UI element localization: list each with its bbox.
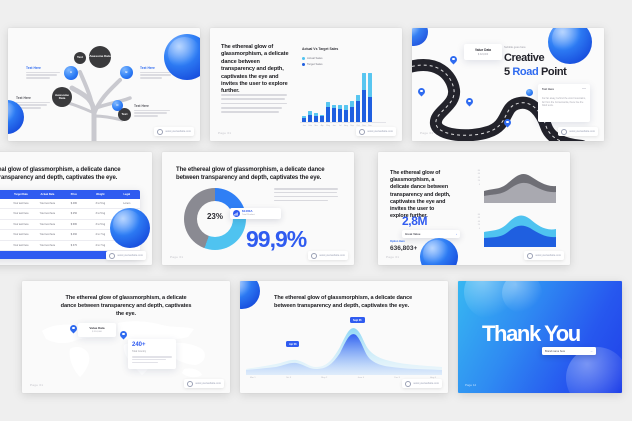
bar-segment-target: [356, 101, 360, 122]
road-title-accent: Road: [512, 66, 538, 78]
page-number: Page 01: [170, 255, 183, 259]
tree-node-label: C: [112, 100, 123, 111]
bar-segment-actual: [368, 73, 372, 97]
table-column-header: Legal: [114, 193, 140, 196]
bar-segment-target: [368, 97, 372, 122]
map-pin-4[interactable]: [504, 119, 511, 128]
search-icon: [405, 381, 411, 387]
bar-x-label: Jan: [302, 125, 306, 127]
watermark-badge: www.yourwebsite.com: [154, 127, 194, 136]
search-icon: [527, 253, 533, 259]
tree-node-label: B: [120, 66, 133, 79]
slide-data-table[interactable]: The ethereal glow of glassmorphism, a de…: [0, 152, 152, 265]
bar-segment-target: [350, 107, 354, 122]
tree-node-c[interactable]: C: [112, 100, 123, 111]
kpi-value: 2,8M: [402, 214, 427, 228]
table-cell: $ 680: [61, 223, 87, 226]
value-card-sub: $ 324,000: [78, 331, 116, 333]
world-map-icon: [36, 315, 216, 381]
road-title-line2: 5 Road Point: [504, 66, 566, 78]
slide-mountain-area[interactable]: The ethereal glow of glassmorphism, a de…: [240, 281, 448, 393]
watermark-text: www.yourwebsite.com: [535, 254, 561, 257]
table-column-header: Price: [61, 193, 87, 196]
watermark-badge: www.yourwebsite.com: [558, 127, 598, 136]
bar-column: Oct: [356, 95, 360, 123]
detail-card-title: Text Here: [542, 88, 554, 91]
bar-segment-target: [308, 115, 312, 122]
table-column-header: Actual Data: [34, 193, 60, 196]
big-percent-value: 99,9%: [246, 226, 306, 253]
table-cell: Your text here: [8, 244, 34, 247]
value-card-title: Value Data: [78, 326, 116, 330]
grey-chart-yticks: 806040200: [474, 170, 480, 187]
map-pin-2[interactable]: [450, 56, 457, 65]
tree-node-b[interactable]: B: [120, 66, 133, 79]
watermark-text: www.yourwebsite.com: [117, 254, 143, 257]
decorative-sphere: [502, 281, 542, 313]
slide-1-content: Text Awesome Data Awesome Data Text A B …: [8, 28, 200, 141]
slide-bar-chart[interactable]: The ethereal glow of glassmorphism, a de…: [210, 28, 402, 141]
watermark-text: www.yourwebsite.com: [165, 130, 191, 133]
bar-segment-target: [338, 109, 342, 122]
table-cell: Your text here: [0, 233, 8, 236]
slide-2-content: The ethereal glow of glassmorphism, a de…: [210, 28, 402, 141]
value-card-sub: $ 324,000: [464, 54, 502, 56]
bar-column: Aug: [344, 105, 348, 123]
map-pin-left[interactable]: [70, 325, 77, 334]
watermark-badge: www.yourwebsite.com: [524, 251, 564, 260]
search-icon: [311, 253, 317, 259]
page-number: Page 01: [30, 383, 43, 387]
tree-node-label: Text: [74, 52, 86, 64]
callout-lines: [134, 110, 170, 118]
watermark-badge: www.yourwebsite.com: [184, 379, 224, 388]
bar-x-label: Jun: [332, 125, 336, 127]
bar-column: Feb: [308, 111, 312, 122]
table-column-header: Item Name: [0, 193, 8, 196]
table-cell: Your text here: [0, 202, 8, 205]
tooltip-apr[interactable]: Apr 08: [286, 341, 299, 347]
table-cell: $ 480: [61, 202, 87, 205]
decorative-sphere: [420, 238, 458, 265]
thank-you-title: Thank You: [482, 321, 580, 347]
callout-title: Text Here: [26, 66, 60, 70]
bar-column: Mar: [314, 113, 318, 122]
page-number: Page 01: [218, 131, 231, 135]
table-cell: Your text here: [34, 244, 60, 247]
bar-column: Dec: [368, 73, 372, 122]
tree-node-awesome-data-left[interactable]: Awesome Data: [52, 87, 72, 107]
table-column-header: Weight: [87, 193, 113, 196]
table-cell: Lorem: [114, 202, 140, 205]
slide-gallery-canvas: Text Awesome Data Awesome Data Text A B …: [0, 0, 632, 421]
watermark-badge: www.yourwebsite.com: [356, 127, 396, 136]
slide-headline: The ethereal glow of glassmorphism, a de…: [274, 295, 414, 311]
slide-thank-you[interactable]: Thank You Brand name here → Page 12: [458, 281, 622, 393]
mountain-area-chart-plot: [246, 317, 442, 375]
chip-sub: Total Product: [242, 214, 255, 217]
value-data-card[interactable]: Value Data $ 324,000: [78, 323, 116, 337]
table-cell: 3 to 5 kg: [87, 202, 113, 205]
tree-node-awesome-data-top[interactable]: Awesome Data: [89, 46, 111, 68]
slide-road-point[interactable]: Value Data $ 324,000 Subtitle goes here …: [412, 28, 604, 141]
decorative-sphere: [110, 208, 150, 248]
watermark-badge: www.yourwebsite.com: [106, 251, 146, 260]
road-title-line1: Creative: [504, 52, 544, 64]
bar-column: Sep: [350, 101, 354, 122]
table-cell: Your text here: [34, 233, 60, 236]
bar-x-label: Feb: [308, 125, 312, 127]
decorative-sphere: [240, 281, 260, 309]
callout-left-top: Text Here: [26, 66, 60, 80]
bar-x-label: Jul: [338, 125, 342, 127]
tree-node-text-top[interactable]: Text: [74, 52, 86, 64]
slide-headline: The ethereal glow of glassmorphism, a de…: [0, 166, 136, 182]
tree-node-a[interactable]: A: [64, 66, 78, 80]
bar-x-label: Aug: [344, 125, 348, 127]
tree-node-label: Awesome Data: [52, 87, 72, 107]
table-cell: Your text here: [34, 202, 60, 205]
page-number: Page 01: [420, 131, 433, 135]
total-product-chip[interactable]: $1400A Total Product: [230, 208, 281, 219]
tree-node-label: A: [64, 66, 78, 80]
watermark-text: www.yourwebsite.com: [367, 130, 393, 133]
slide-7-content: The ethereal glow of glassmorphism, a de…: [22, 281, 230, 393]
eyebrow-text: Subtitle goes here: [504, 46, 526, 49]
slide-headline: The ethereal glow of glassmorphism, a de…: [221, 44, 289, 96]
chart-title: Actual Vs Target Sales: [302, 47, 338, 51]
detail-card-body: Far far away, behind the word mountains,…: [542, 97, 586, 108]
stat-body-lines: [132, 355, 172, 363]
slide-4-content: The ethereal glow of glassmorphism, a de…: [0, 152, 152, 265]
table-cell: Your text here: [34, 212, 60, 215]
tree-node-label: Awesome Data: [89, 46, 111, 68]
table-cell: Your text here: [0, 212, 8, 215]
blue-chart-yticks: 806040200: [474, 214, 480, 231]
arrow-right-icon: →: [590, 349, 593, 353]
more-icon: [582, 88, 586, 89]
table-cell: $ 250: [61, 212, 87, 215]
table-cell: Your text here: [8, 202, 34, 205]
detail-card[interactable]: Text Here Far far away, behind the word …: [538, 84, 590, 122]
brand-button[interactable]: Brand name here →: [542, 347, 596, 355]
callout-title: Text Here: [134, 104, 170, 108]
chart-icon: [234, 212, 238, 216]
watermark-text: www.yourwebsite.com: [195, 382, 221, 385]
watermark-badge: www.yourwebsite.com: [308, 251, 348, 260]
table-cell: Your text here: [0, 223, 8, 226]
bar-column: Jun: [332, 105, 336, 122]
callout-title: Text Here: [16, 96, 50, 100]
table-cell: Your text here: [8, 233, 34, 236]
kpi-badge-label: Great Value: [405, 232, 420, 236]
step-bullet-icon: [526, 89, 533, 96]
bar-segment-actual: [362, 73, 366, 89]
watermark-text: www.yourwebsite.com: [319, 254, 345, 257]
table-cell: Your text here: [8, 223, 34, 226]
chip-icon: [233, 210, 240, 217]
table-row[interactable]: Your text hereYour text hereYour text he…: [0, 199, 140, 210]
chart-legend: Actual Sales Target Sales: [302, 56, 323, 68]
bar-column: May: [326, 102, 330, 122]
page-number: Page 01: [386, 255, 399, 259]
watermark-text: www.yourwebsite.com: [569, 130, 595, 133]
watermark-badge: www.yourwebsite.com: [402, 379, 442, 388]
callout-lines: [26, 72, 60, 80]
blue-area-chart-plot: [484, 213, 556, 247]
legend-item-actual: Actual Sales: [302, 56, 323, 60]
slide-headline: The ethereal glow of glassmorphism, a de…: [176, 166, 326, 182]
bar-x-label: Apr: [320, 125, 324, 127]
slide-9-content: Thank You Brand name here → Page 12: [458, 281, 622, 393]
chart-x-label: Mar 1: [250, 377, 256, 379]
bar-x-label: Sep: [350, 125, 354, 127]
sub-value: 636,803+: [390, 245, 417, 252]
slide-5-content: The ethereal glow of glassmorphism, a de…: [162, 152, 354, 265]
chart-x-label: May 2: [321, 377, 327, 379]
chip-text-group: $1400A Total Product: [242, 210, 255, 216]
page-number: Page 12: [465, 383, 476, 387]
slide-6-content: The ethereal glow of glassmorphism, a de…: [378, 152, 570, 265]
stat-value: 240+: [132, 342, 146, 348]
watermark-text: www.yourwebsite.com: [413, 382, 439, 385]
search-icon: [109, 253, 115, 259]
table-cell: Your text here: [8, 212, 34, 215]
road-title-tail: Point: [541, 66, 567, 78]
map-pin-1[interactable]: [418, 88, 425, 97]
chart-x-label: Oct 3: [286, 377, 291, 379]
grey-area-chart-plot: [484, 169, 556, 203]
bar-column: Nov: [362, 73, 366, 122]
slide-donut-chart[interactable]: The ethereal glow of glassmorphism, a de…: [162, 152, 354, 265]
table-cell: Your text here: [34, 223, 60, 226]
tooltip-sept[interactable]: Sept 06: [350, 317, 365, 323]
value-card-title: Value Data: [464, 48, 502, 52]
bar-segment-target: [332, 108, 336, 122]
sub-label: Option Here: [390, 240, 405, 243]
side-lorem-lines: [274, 188, 338, 201]
legend-label: Target Sales: [307, 62, 323, 66]
total-country-card[interactable]: 240+ Total Country: [128, 339, 176, 369]
map-pin-3[interactable]: [466, 98, 473, 107]
legend-item-target: Target Sales: [302, 62, 323, 66]
bar-column: Jul: [338, 105, 342, 122]
legend-label: Actual Sales: [307, 56, 323, 60]
callout-lines: [140, 72, 174, 80]
kpi-badge[interactable]: Great Value ›: [402, 230, 460, 238]
road-title-number: 5: [504, 66, 510, 78]
bar-segment-target: [326, 107, 330, 122]
body-lorem-lines: [221, 94, 287, 113]
callout-right-bottom: Text Here: [134, 104, 170, 118]
value-data-card[interactable]: Value Data $ 324,000: [464, 44, 502, 60]
bar-x-label: May: [326, 125, 330, 127]
chart-x-label: June 4: [358, 377, 365, 379]
search-icon: [187, 381, 193, 387]
stat-label: Total Country: [132, 350, 146, 353]
brand-button-label: Brand name here: [545, 350, 565, 353]
bar-segment-target: [362, 90, 366, 123]
table-cell: $ 370: [61, 244, 87, 247]
table-column-header: Target Data: [8, 193, 34, 196]
chart-axis: [300, 122, 386, 123]
chart-x-label: Dec 5: [394, 377, 400, 379]
table-header-row: Item NameTarget DataActual DataPriceWeig…: [0, 190, 140, 199]
bar-column: Apr: [320, 115, 324, 123]
table-cell: 4 to 7 kg: [87, 233, 113, 236]
bar-x-label: Mar: [314, 125, 318, 127]
table-cell: 3 to 5 kg: [87, 212, 113, 215]
map-pin-right[interactable]: [120, 331, 127, 340]
bar-chart-plot: JanFebMarAprMayJunJulAugSepOctNovDec: [302, 72, 372, 122]
slide-stacked-area[interactable]: The ethereal glow of glassmorphism, a de…: [378, 152, 570, 265]
slide-3-content: Value Data $ 324,000 Subtitle goes here …: [412, 28, 604, 141]
table-cell: 4 to 7 kg: [87, 244, 113, 247]
bar-segment-target: [344, 110, 348, 123]
slide-8-content: The ethereal glow of glassmorphism, a de…: [240, 281, 448, 393]
table-cell: Your text here: [0, 244, 8, 247]
search-icon: [359, 129, 365, 135]
chevron-right-icon: ›: [456, 233, 457, 236]
table-cell: $ 460: [61, 233, 87, 236]
slide-world-map[interactable]: The ethereal glow of glassmorphism, a de…: [22, 281, 230, 393]
search-icon: [561, 129, 567, 135]
search-icon: [157, 129, 163, 135]
slide-mind-map[interactable]: Text Awesome Data Awesome Data Text A B …: [8, 28, 200, 141]
